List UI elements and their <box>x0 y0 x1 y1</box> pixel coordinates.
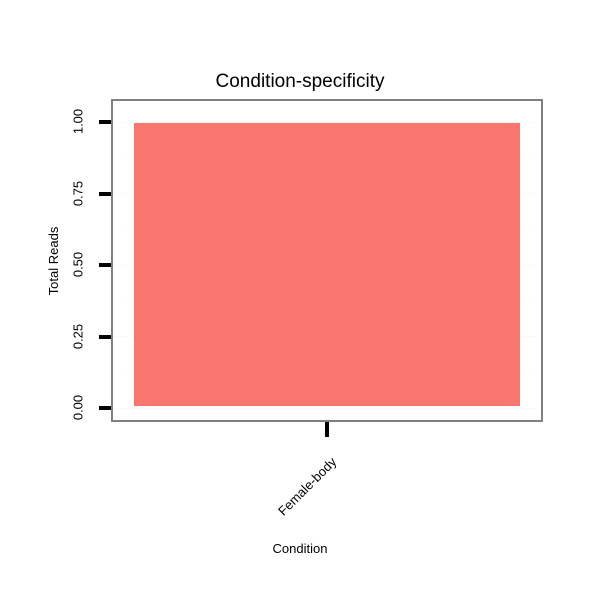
x-axis-title: Condition <box>0 541 600 557</box>
bar-female-body[interactable] <box>134 123 519 406</box>
y-tick-mark-1.00 <box>99 120 111 124</box>
y-tick-mark-0.75 <box>99 192 111 196</box>
y-tick-mark-0.00 <box>99 406 111 410</box>
chart-figure: Condition-specificity 1.00 0.75 0.50 0.2… <box>0 0 600 600</box>
y-axis-title: Total Reads <box>47 221 61 301</box>
plot-panel <box>111 99 543 422</box>
x-tick-mark-female-body <box>325 422 329 437</box>
y-tick-label-0.00: 0.00 <box>72 391 85 425</box>
y-tick-label-0.75: 0.75 <box>72 177 85 211</box>
gridline-major-0.00 <box>113 408 541 409</box>
y-tick-mark-0.25 <box>99 335 111 339</box>
y-tick-label-0.25: 0.25 <box>72 320 85 354</box>
y-tick-label-1.00: 1.00 <box>72 105 85 139</box>
y-tick-mark-0.50 <box>99 263 111 267</box>
y-tick-label-0.50: 0.50 <box>72 248 85 282</box>
page-title: Condition-specificity <box>0 71 600 93</box>
x-tick-label-female-body: Female-body <box>265 454 339 528</box>
